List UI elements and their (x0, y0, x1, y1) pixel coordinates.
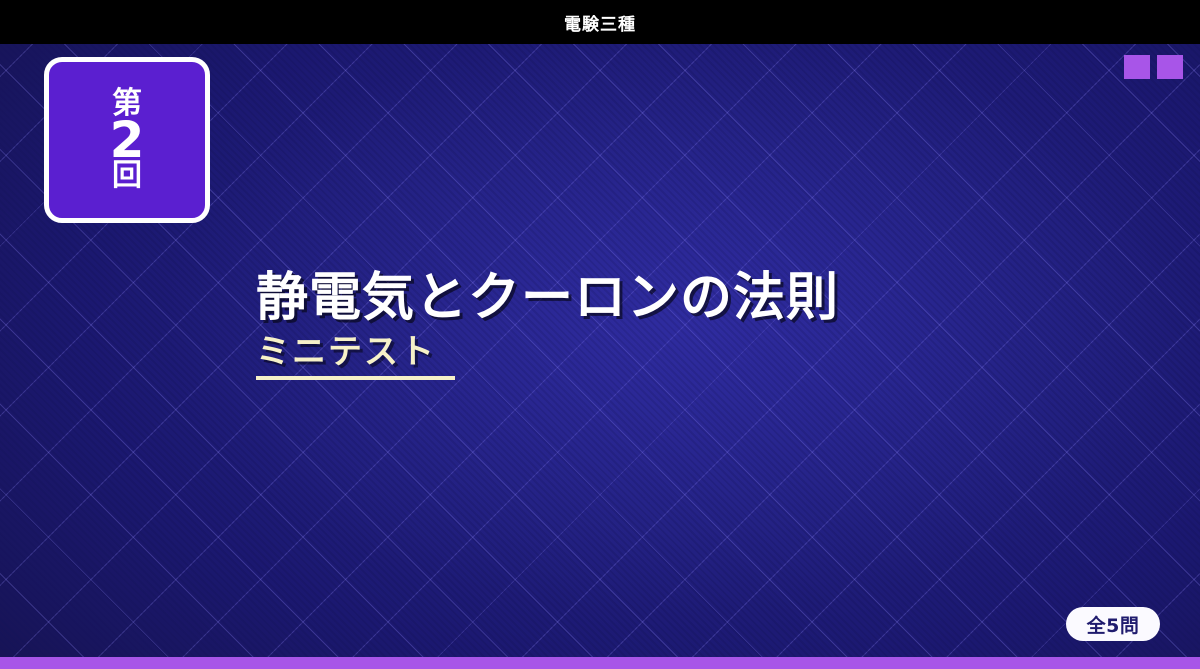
question-count-label: 全5問 (1087, 611, 1140, 638)
episode-badge: 第 2 回 (44, 57, 210, 223)
topbar-title: 電験三種 (564, 10, 636, 35)
page-title: 静電気とクーロンの法則 (256, 270, 839, 326)
slide-stage: 第 2 回 静電気とクーロンの法則 ミニテスト 全5問 (0, 44, 1200, 669)
episode-badge-suffix: 回 (112, 161, 142, 191)
page-subtitle: ミニテスト (256, 334, 436, 371)
decorative-square-icon-2 (1157, 55, 1183, 79)
slide-root: 電験三種 第 2 回 静電気とクーロンの法則 ミニテスト 全5問 (0, 0, 1200, 669)
decorative-squares (1124, 55, 1183, 79)
decorative-square-icon-1 (1124, 55, 1150, 79)
headline-block: 静電気とクーロンの法則 ミニテスト (256, 270, 839, 380)
topbar: 電験三種 (0, 0, 1200, 44)
question-count-badge: 全5問 (1066, 607, 1160, 641)
subtitle-underline (256, 376, 455, 380)
bottom-accent-bar (0, 657, 1200, 669)
